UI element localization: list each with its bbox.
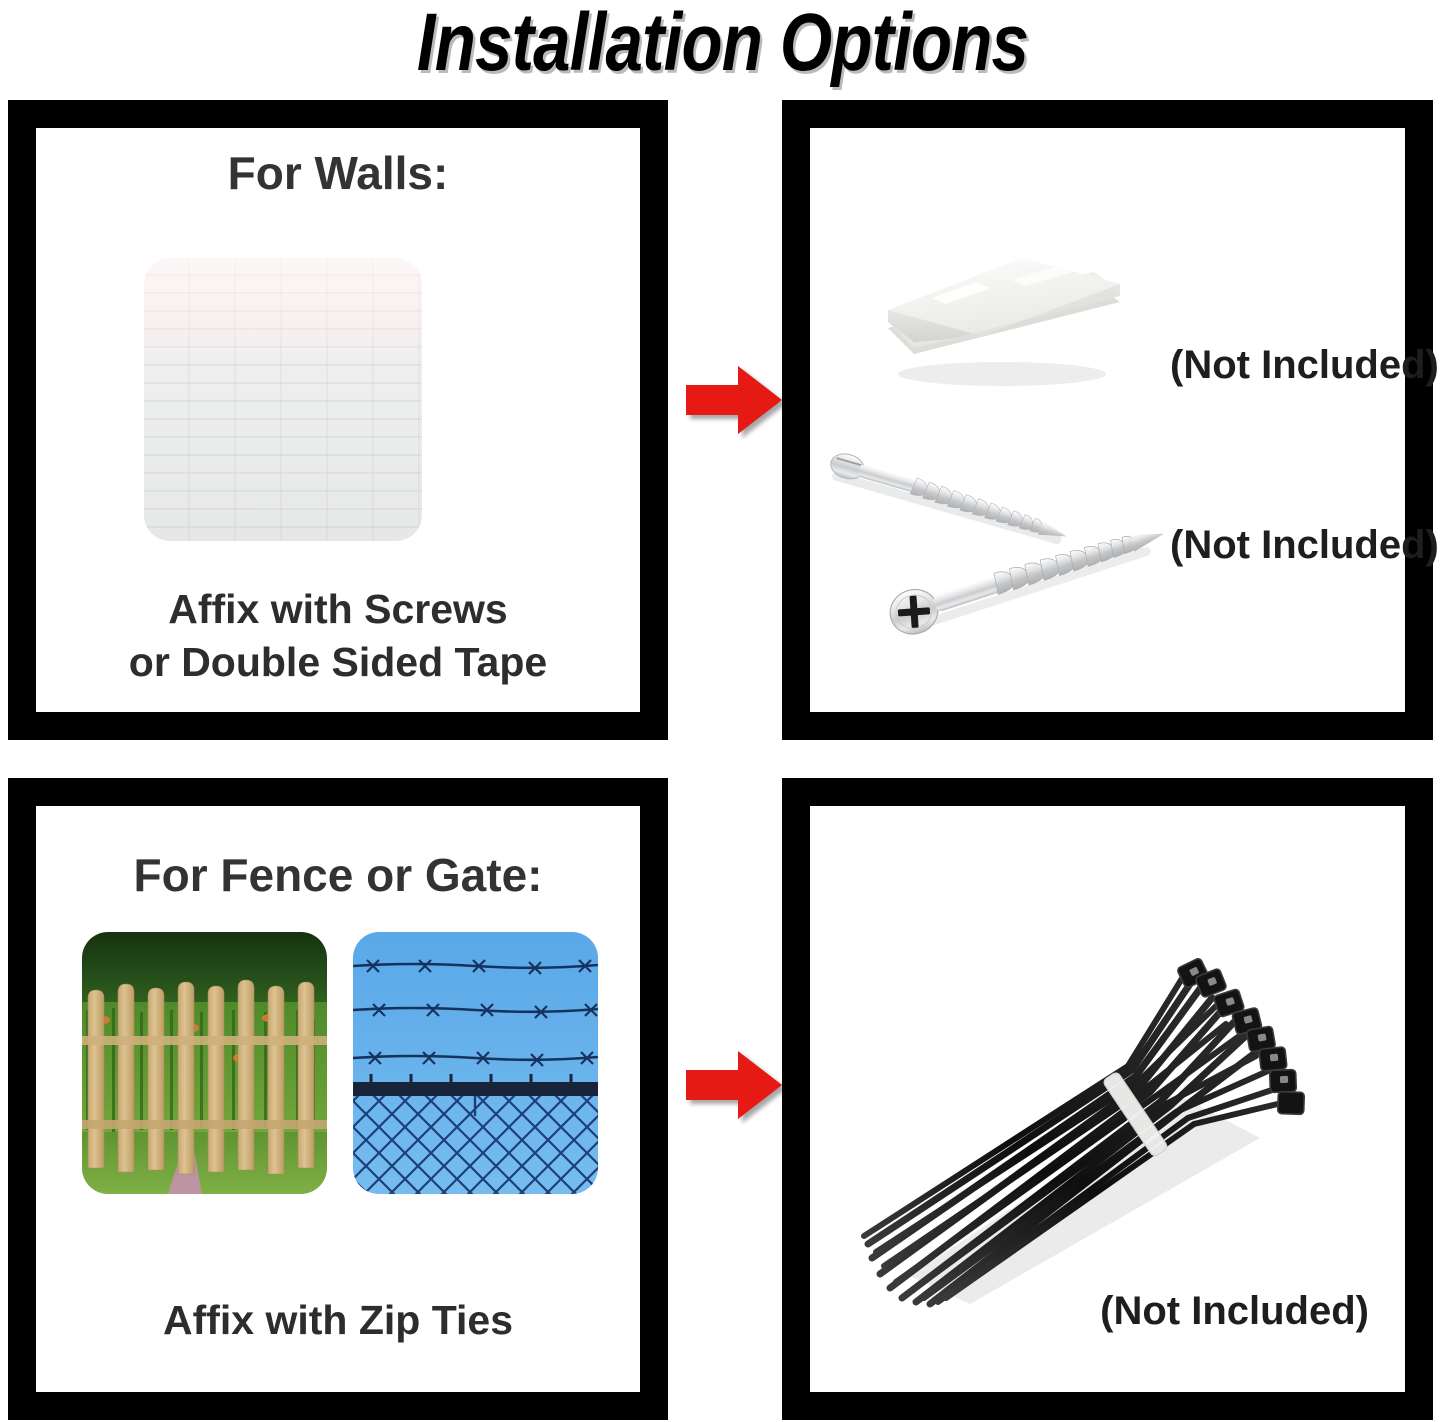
- heading-for-fence-or-gate: For Fence or Gate:: [36, 848, 640, 902]
- panel-walls-hardware: (Not Included): [782, 100, 1433, 740]
- chain-link-barbed-wire-fence-photo: [353, 932, 598, 1194]
- caption-affix-zip-ties: Affix with Zip Ties: [36, 1294, 640, 1346]
- not-included-label-screws: (Not Included): [1170, 523, 1439, 568]
- double-sided-tape-stack: [872, 236, 1128, 396]
- installation-options-infographic: Installation Options For Walls: Affix wi…: [0, 0, 1445, 1422]
- heading-for-walls: For Walls:: [36, 146, 640, 200]
- caption-affix-walls: Affix with Screws or Double Sided Tape: [36, 583, 640, 688]
- not-included-label-zip-ties: (Not Included): [1100, 1289, 1369, 1334]
- not-included-label-tape: (Not Included): [1170, 343, 1439, 388]
- panel-for-fence-or-gate: For Fence or Gate:: [8, 778, 668, 1420]
- right-arrow-icon: [686, 1048, 782, 1122]
- white-brick-wall-photo: [144, 258, 422, 541]
- caption-line-2: or Double Sided Tape: [36, 636, 640, 688]
- panel-for-walls: For Walls: Affix with Screws or Double S…: [8, 100, 668, 740]
- right-arrow-icon: [686, 363, 782, 437]
- black-zip-ties-bundle: [850, 906, 1360, 1326]
- screws-pair: [828, 438, 1200, 638]
- caption-line-1: Affix with Screws: [36, 583, 640, 635]
- panel-zip-ties-hardware: (Not Included): [782, 778, 1433, 1420]
- page-title: Installation Options: [130, 0, 1315, 90]
- wooden-picket-fence-photo: [82, 932, 327, 1194]
